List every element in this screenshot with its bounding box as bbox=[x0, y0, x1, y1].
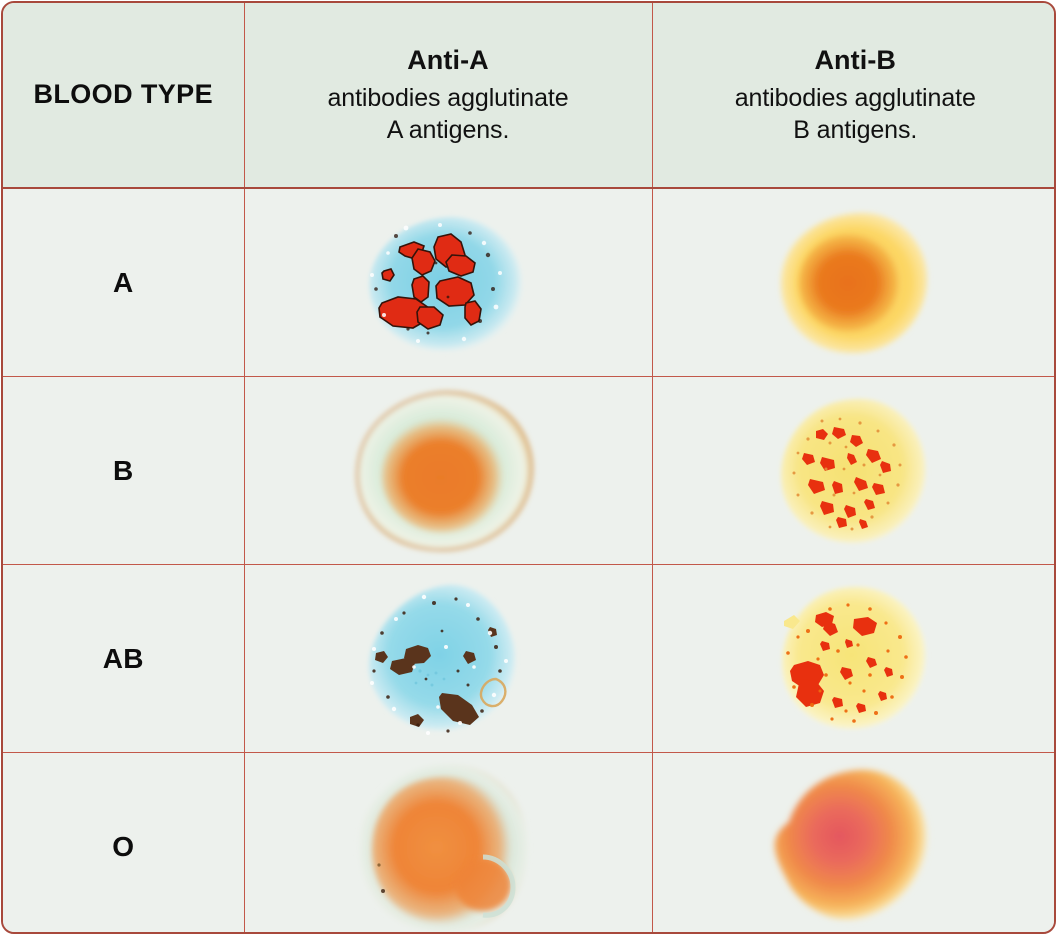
table-row: O bbox=[3, 753, 1056, 935]
row-label-cell-b: B bbox=[3, 377, 244, 565]
cell-ab-anti-b bbox=[652, 565, 1056, 753]
blood-typing-table: BLOOD TYPE Anti-A antibodies agglutinate… bbox=[3, 3, 1056, 934]
header-anti-a-title: Anti-A bbox=[259, 43, 638, 78]
cell-a-anti-b bbox=[652, 188, 1056, 377]
cell-b-anti-b bbox=[652, 377, 1056, 565]
blood-sample-b-anti-b-icon bbox=[760, 391, 950, 551]
table-row: AB bbox=[3, 565, 1056, 753]
header-row: BLOOD TYPE Anti-A antibodies agglutinate… bbox=[3, 3, 1056, 188]
row-label-cell-a: A bbox=[3, 188, 244, 377]
header-anti-a-desc-line2: A antigens. bbox=[259, 114, 638, 147]
header-anti-b-desc-line2: B antigens. bbox=[667, 114, 1045, 147]
blood-type-label: A bbox=[113, 267, 134, 298]
header-blood-type: BLOOD TYPE bbox=[3, 3, 244, 188]
header-anti-b-title: Anti-B bbox=[667, 43, 1045, 78]
cell-a-anti-a bbox=[244, 188, 652, 377]
row-label-cell-ab: AB bbox=[3, 565, 244, 753]
blood-type-label: O bbox=[112, 831, 134, 862]
table-body: A bbox=[3, 188, 1056, 934]
cell-o-anti-b bbox=[652, 753, 1056, 935]
blood-sample-ab-anti-a-icon bbox=[348, 575, 548, 743]
table-row: B bbox=[3, 377, 1056, 565]
table-header: BLOOD TYPE Anti-A antibodies agglutinate… bbox=[3, 3, 1056, 188]
header-blood-type-label: BLOOD TYPE bbox=[3, 79, 244, 110]
cell-o-anti-a bbox=[244, 753, 652, 935]
header-anti-a: Anti-A antibodies agglutinate A antigens… bbox=[244, 3, 652, 188]
blood-sample-o-anti-a-icon bbox=[343, 757, 553, 935]
blood-sample-a-anti-b-icon bbox=[755, 203, 955, 363]
cell-b-anti-a bbox=[244, 377, 652, 565]
header-anti-a-desc-line1: antibodies agglutinate bbox=[259, 82, 638, 115]
header-anti-a-stack: Anti-A antibodies agglutinate A antigens… bbox=[245, 43, 652, 146]
blood-type-label: AB bbox=[103, 643, 144, 674]
blood-type-label: B bbox=[113, 455, 134, 486]
blood-sample-o-anti-b-icon bbox=[755, 762, 955, 932]
blood-sample-ab-anti-b-icon bbox=[760, 579, 950, 739]
blood-typing-table-container: BLOOD TYPE Anti-A antibodies agglutinate… bbox=[1, 1, 1056, 934]
blood-sample-b-anti-a-icon bbox=[343, 385, 553, 557]
header-anti-b-stack: Anti-B antibodies agglutinate B antigens… bbox=[653, 43, 1057, 146]
blood-sample-a-anti-a-icon bbox=[348, 203, 548, 363]
header-anti-b-desc-line1: antibodies agglutinate bbox=[667, 82, 1045, 115]
row-label-cell-o: O bbox=[3, 753, 244, 935]
header-anti-b: Anti-B antibodies agglutinate B antigens… bbox=[652, 3, 1056, 188]
table-row: A bbox=[3, 188, 1056, 377]
cell-ab-anti-a bbox=[244, 565, 652, 753]
